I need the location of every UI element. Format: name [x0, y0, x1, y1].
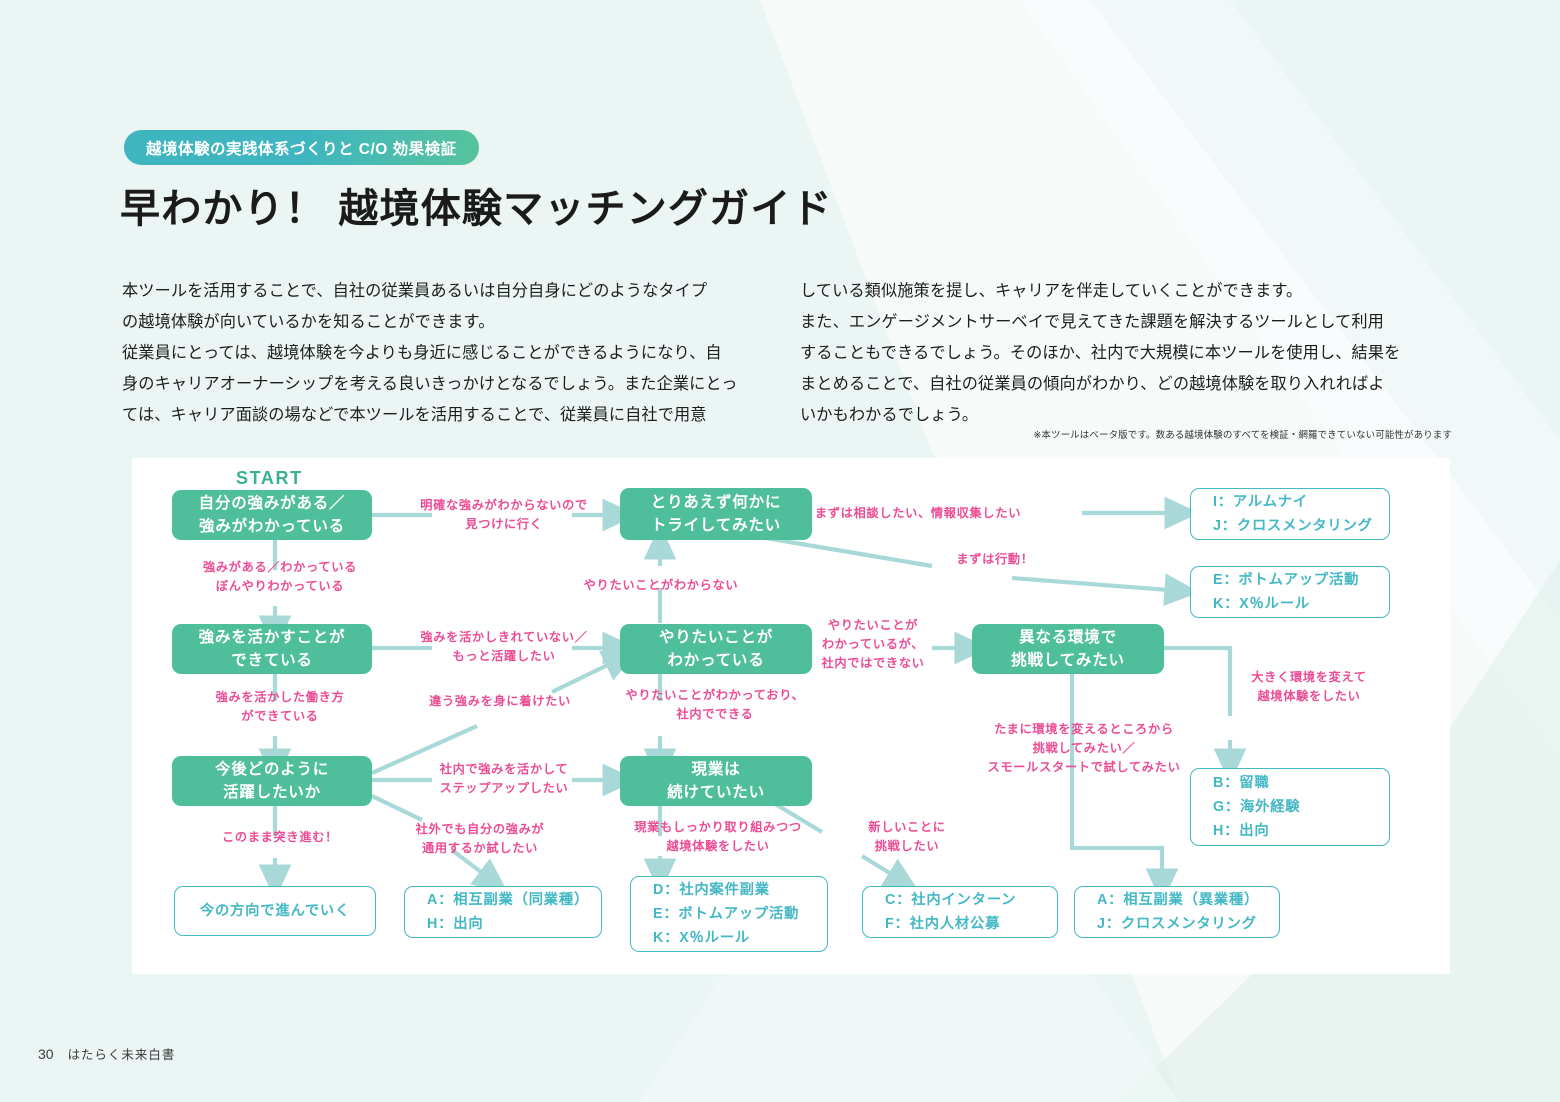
node-line: 続けていたい — [667, 781, 765, 804]
outcome-line: F：社内人材公募 — [885, 912, 1000, 936]
page-footer: 30 はたらく未来白書 — [38, 1044, 175, 1063]
edge-label-n4-o2: まずは行動！ — [940, 550, 1050, 569]
footer-book-title: はたらく未来白書 — [68, 1044, 176, 1063]
node-line: 異なる環境で — [1019, 626, 1117, 649]
node-future-activity[interactable]: 今後どのように 活躍したいか — [172, 756, 372, 806]
flowchart-card: START 自分の強みがある／ 強みがわかっている 強みを活かすことが できてい… — [132, 458, 1450, 974]
edge-label-n2-n5: 強みを活かしきれていない／ もっと活躍したい — [404, 628, 604, 666]
outcome-line: J：クロスメンタリング — [1213, 514, 1373, 538]
node-line: できている — [231, 649, 313, 672]
beta-disclaimer-note: ※本ツールはベータ版です。数ある越境体験のすべてを検証・網羅できていない可能性が… — [800, 427, 1452, 441]
outcome-line: K：X％ルール — [653, 926, 750, 950]
edge-label-n1-n4: 明確な強みがわからないので 見つけに行く — [404, 496, 604, 534]
outcome-line: I：アルムナイ — [1213, 490, 1308, 514]
outcome-line: H：出向 — [427, 912, 483, 936]
outcome-line: H：出向 — [1213, 819, 1269, 843]
edge-label-n2-n3: 強みを活かした働き方 ができている — [180, 688, 380, 726]
outcome-line: E：ボトムアップ活動 — [653, 902, 799, 926]
outcome-line: K：X％ルール — [1213, 592, 1310, 616]
edge-label-n3-n6: 社内で強みを活かして ステップアップしたい — [404, 760, 604, 798]
body-line: まとめることで、自社の従業員の傾向がわかり、どの越境体験を取り入れればよ — [800, 369, 1452, 400]
body-text-right-column: している類似施策を提し、キャリアを伴走していくことができます。 また、エンゲージ… — [800, 276, 1452, 431]
outcome-line: C：社内インターン — [885, 888, 1016, 912]
page-title: 早わかり！ 越境体験マッチングガイド — [120, 176, 833, 234]
body-line: している類似施策を提し、キャリアを伴走していくことができます。 — [800, 276, 1452, 307]
outcome-line: D：社内案件副業 — [653, 878, 770, 902]
node-line: わかっている — [667, 649, 764, 672]
edge-label-n1-n2: 強みがある／わかっている ぼんやりわかっている — [180, 558, 380, 596]
section-badge: 越境体験の実践体系づくりと C/O 効果検証 — [124, 130, 479, 165]
body-line: また、エンゲージメントサーベイで見えてきた課題を解決するツールとして利用 — [800, 307, 1452, 338]
node-different-environment[interactable]: 異なる環境で 挑戦してみたい — [972, 624, 1164, 674]
body-text-left-column: 本ツールを活用することで、自社の従業員あるいは自分自身にどのようなタイプ の越境… — [122, 276, 774, 431]
outcome-ryushoku-overseas-shukkou[interactable]: B：留職 G：海外経験 H：出向 — [1190, 768, 1390, 846]
outcome-line: J：クロスメンタリング — [1097, 912, 1257, 936]
node-line: 現業は — [692, 758, 741, 781]
outcome-line: A：相互副業（同業種） — [427, 888, 589, 912]
outcome-internal-intern-jobposting[interactable]: C：社内インターン F：社内人材公募 — [862, 886, 1058, 938]
outcome-line: B：留職 — [1213, 771, 1269, 795]
edge-label-n5-n4: やりたいことがわからない — [546, 576, 776, 595]
edge-label-n7-o8: たまに環境を変えるところから 挑戦してみたい／ スモールスタートで試してみたい — [960, 720, 1208, 777]
body-line: 身のキャリアオーナーシップを考える良いきっかけとなるでしょう。また企業にとっ — [122, 369, 774, 400]
node-using-strength[interactable]: 強みを活かすことが できている — [172, 624, 372, 674]
edge-label-n4-o1: まずは相談したい、情報収集したい — [756, 504, 1080, 523]
node-line: 活躍したいか — [223, 781, 321, 804]
outcome-mutual-sidejob-cross-crossmentoring[interactable]: A：相互副業（異業種） J：クロスメンタリング — [1074, 886, 1280, 938]
outcome-alumni-crossmentoring[interactable]: I：アルムナイ J：クロスメンタリング — [1190, 488, 1390, 540]
body-line: 本ツールを活用することで、自社の従業員あるいは自分自身にどのようなタイプ — [122, 276, 774, 307]
edge-label-n6-o7: 新しいことに 挑戦したい — [848, 818, 966, 856]
outcome-continue-direction[interactable]: 今の方向で進んでいく — [174, 886, 376, 936]
body-line: ては、キャリア面談の場などで本ツールを活用することで、従業員に自社で用意 — [122, 400, 774, 431]
node-self-strength[interactable]: 自分の強みがある／ 強みがわかっている — [172, 490, 372, 540]
node-line: やりたいことが — [659, 626, 773, 649]
edge-label-n7-o3: 大きく環境を変えて 越境体験をしたい — [1212, 668, 1406, 706]
edge-label-n5-n7: やりたいことが わかっているが、 社内ではできない — [808, 616, 938, 673]
outcome-mutual-sidejob-same-shukkou[interactable]: A：相互副業（同業種） H：出向 — [404, 886, 602, 938]
node-line: 今後どのように — [215, 758, 329, 781]
edge-label-n3-o5: 社外でも自分の強みが 通用するか試したい — [380, 820, 580, 858]
node-line: 挑戦してみたい — [1011, 649, 1125, 672]
node-keep-current-job[interactable]: 現業は 続けていたい — [620, 756, 812, 806]
footer-page-number: 30 — [38, 1046, 54, 1062]
node-line: 自分の強みがある／ — [199, 492, 346, 515]
edge-label-n5-n6: やりたいことがわかっており、 社内でできる — [560, 686, 870, 724]
node-knows-what-to-do[interactable]: やりたいことが わかっている — [620, 624, 812, 674]
body-line: の越境体験が向いているかを知ることができます。 — [122, 307, 774, 338]
body-line: することもできるでしょう。そのほか、社内で大規模に本ツールを使用し、結果を — [800, 338, 1452, 369]
outcome-line: 今の方向で進んでいく — [200, 899, 350, 923]
outcome-line: A：相互副業（異業種） — [1097, 888, 1259, 912]
node-line: 強みを活かすことが — [199, 626, 346, 649]
outcome-line: G：海外経験 — [1213, 795, 1300, 819]
edge-label-n6-o6: 現業もしっかり取り組みつつ 越境体験をしたい — [600, 818, 836, 856]
start-label: START — [236, 468, 303, 489]
outcome-bottomup-xrule[interactable]: E：ボトムアップ活動 K：X％ルール — [1190, 566, 1390, 618]
body-line: 従業員にとっては、越境体験を今よりも身近に感じることができるようになり、自 — [122, 338, 774, 369]
outcome-internal-project-bottomup-xrule[interactable]: D：社内案件副業 E：ボトムアップ活動 K：X％ルール — [630, 876, 828, 952]
edge-label-n3-o4: このまま突き進む！ — [180, 828, 380, 847]
outcome-line: E：ボトムアップ活動 — [1213, 568, 1359, 592]
node-line: 強みがわかっている — [199, 515, 345, 538]
